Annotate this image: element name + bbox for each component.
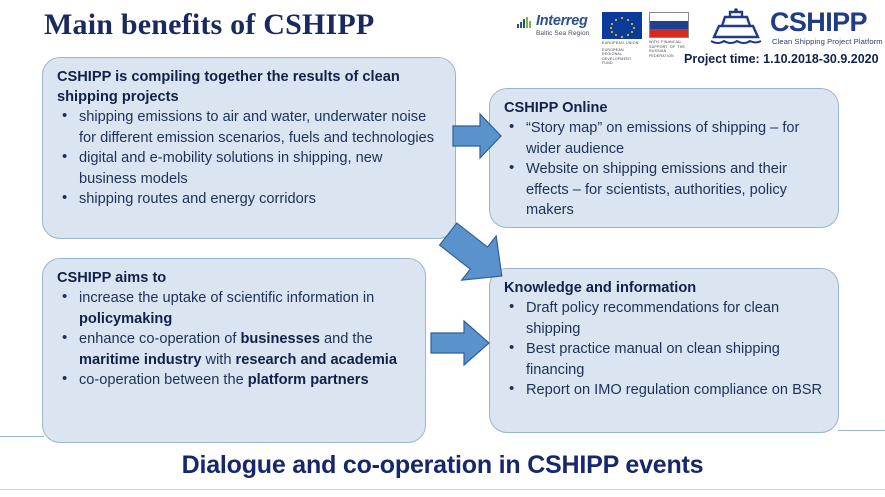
eu-logo: EUROPEAN UNION EUROPEAN REGIONAL DEVELOP… <box>602 12 642 66</box>
box-online-heading: CSHIPP Online <box>504 98 824 118</box>
arrow-right-icon <box>430 318 490 368</box>
list-item: co-operation between the platform partne… <box>57 370 411 391</box>
interreg-subtitle: Baltic Sea Region <box>536 30 589 37</box>
slide-canvas: Main benefits of CSHIPP Interreg Baltic … <box>0 0 885 497</box>
box-aims-bullets: increase the uptake of scientific inform… <box>57 288 411 391</box>
box-knowledge-bullets: Draft policy recommendations for clean s… <box>504 298 824 401</box>
russia-caption: WITH FINANCIAL SUPPORT OF THE RUSSIAN FE… <box>649 40 689 58</box>
box-online-bullets: “Story map” on emissions of shipping – f… <box>504 118 824 221</box>
list-item: Report on IMO regulation compliance on B… <box>504 380 824 401</box>
box-compiling: CSHIPP is compiling together the results… <box>42 57 456 239</box>
eu-flag-icon <box>602 12 642 39</box>
list-item: Website on shipping emissions and their … <box>504 159 824 221</box>
list-item: shipping emissions to air and water, und… <box>57 107 441 148</box>
box-aims: CSHIPP aims to increase the uptake of sc… <box>42 258 426 443</box>
box-aims-heading: CSHIPP aims to <box>57 268 411 288</box>
list-item: enhance co-operation of businesses and t… <box>57 329 411 370</box>
interreg-wordmark: Interreg <box>536 14 588 29</box>
russia-logo: WITH FINANCIAL SUPPORT OF THE RUSSIAN FE… <box>649 12 689 58</box>
ship-icon <box>706 7 766 52</box>
box-knowledge: Knowledge and information Draft policy r… <box>489 268 839 433</box>
cshipp-tagline: Clean Shipping Project Platform <box>772 37 883 46</box>
list-item: Draft policy recommendations for clean s… <box>504 298 824 339</box>
arrow-down-right-icon <box>437 219 513 291</box>
interreg-bars-icon <box>517 16 534 28</box>
cshipp-logo: CSHIPP Clean Shipping Project Platform <box>706 6 876 48</box>
box-knowledge-heading: Knowledge and information <box>504 278 824 298</box>
frame-edge-left <box>0 436 44 437</box>
list-item: increase the uptake of scientific inform… <box>57 288 411 329</box>
frame-edge-right <box>838 430 885 431</box>
box-compiling-heading: CSHIPP is compiling together the results… <box>57 67 441 107</box>
eu-caption: EUROPEAN UNION <box>602 41 642 46</box>
list-item: digital and e-mobility solutions in ship… <box>57 148 441 189</box>
arrow-right-icon <box>452 112 502 160</box>
page-title: Main benefits of CSHIPP <box>44 8 374 42</box>
box-online: CSHIPP Online “Story map” on emissions o… <box>489 88 839 228</box>
cshipp-wordmark: CSHIPP <box>770 9 867 36</box>
list-item: Best practice manual on clean shipping f… <box>504 339 824 380</box>
funding-logos: Interreg Baltic Sea Region EUROPEAN UNIO… <box>516 8 686 66</box>
project-time-label: Project time: 1.10.2018-30.9.2020 <box>684 52 879 66</box>
bottom-divider <box>0 489 885 490</box>
box-compiling-bullets: shipping emissions to air and water, und… <box>57 107 441 210</box>
list-item: “Story map” on emissions of shipping – f… <box>504 118 824 159</box>
slide-caption: Dialogue and co-operation in CSHIPP even… <box>0 451 885 480</box>
list-item: shipping routes and energy corridors <box>57 189 441 210</box>
russia-flag-icon <box>649 12 689 38</box>
eu-fund-caption: EUROPEAN REGIONAL DEVELOPMENT FUND <box>602 48 642 66</box>
